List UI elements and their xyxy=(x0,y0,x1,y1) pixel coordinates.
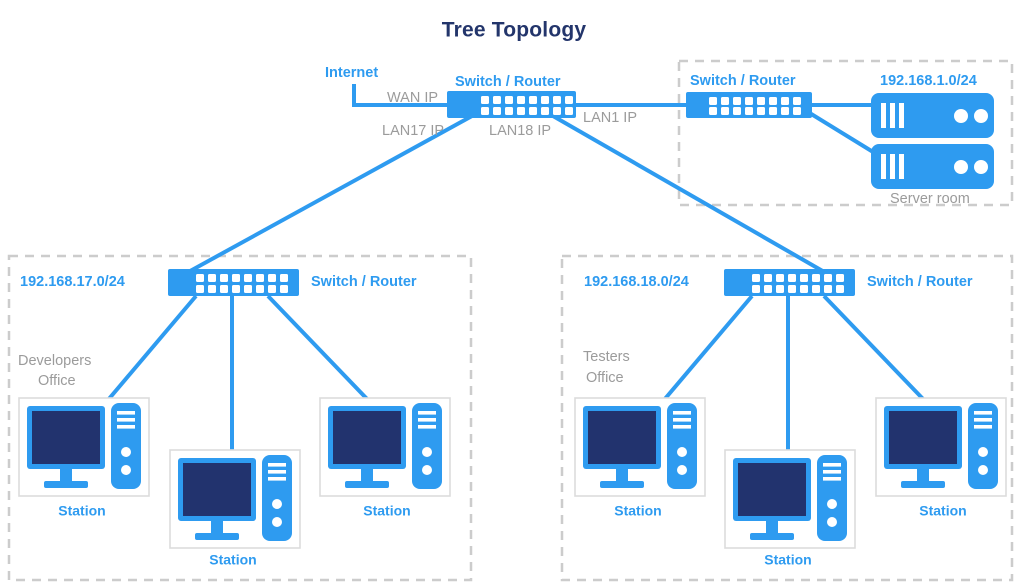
topology-diagram: Tree Topology xyxy=(0,0,1024,588)
core-switch-router[interactable] xyxy=(447,91,576,118)
station-label: Station xyxy=(919,503,966,519)
link-developers-switch-to-station-1 xyxy=(108,296,196,400)
tower-icon xyxy=(412,403,442,489)
tower-icon xyxy=(262,455,292,541)
station-label: Station xyxy=(58,503,105,519)
link-developers-switch-to-station-3 xyxy=(268,296,368,400)
tower-icon xyxy=(667,403,697,489)
station-label: Station xyxy=(209,552,256,568)
serverroom-caption: Server room xyxy=(890,191,970,207)
developers-switch-router[interactable] xyxy=(168,269,299,296)
list-item[interactable]: Station xyxy=(725,450,855,568)
testers-caption-line2: Office xyxy=(586,370,624,386)
list-item[interactable]: Station xyxy=(19,398,149,519)
server-1-bars-icon xyxy=(881,103,904,128)
lan1-ip-label: LAN1 IP xyxy=(583,110,637,126)
developers-caption-line1: Developers xyxy=(18,353,91,369)
tower-icon xyxy=(968,403,998,489)
internet-label: Internet xyxy=(325,65,378,81)
testers-switch-router[interactable] xyxy=(724,269,855,296)
developers-subnet-label: 192.168.17.0/24 xyxy=(20,274,125,290)
server-1[interactable] xyxy=(871,93,994,138)
tower-icon xyxy=(817,455,847,541)
station-label: Station xyxy=(363,503,410,519)
testers-subnet-label: 192.168.18.0/24 xyxy=(584,274,689,290)
page-title: Tree Topology xyxy=(442,19,587,42)
serverroom-subnet-label: 192.168.1.0/24 xyxy=(880,73,977,89)
core-switch-label: Switch / Router xyxy=(455,74,561,90)
lan18-ip-label: LAN18 IP xyxy=(489,123,551,139)
serverroom-switch-router[interactable] xyxy=(686,92,812,118)
link-testers-switch-to-station-3 xyxy=(824,296,924,400)
wan-ip-label: WAN IP xyxy=(387,90,438,106)
server-2[interactable] xyxy=(871,144,994,189)
serverroom-switch-label: Switch / Router xyxy=(690,73,796,89)
developers-switch-label: Switch / Router xyxy=(311,274,417,290)
server-2-bars-icon xyxy=(881,154,904,179)
list-item[interactable]: Station xyxy=(320,398,450,519)
developers-caption-line2: Office xyxy=(38,373,76,389)
testers-caption-line1: Testers xyxy=(583,349,630,365)
link-serverswitch-to-server-2 xyxy=(808,112,878,155)
tower-icon xyxy=(111,403,141,489)
station-label: Station xyxy=(614,503,661,519)
station-label: Station xyxy=(764,552,811,568)
testers-switch-label: Switch / Router xyxy=(867,274,973,290)
link-testers-switch-to-station-1 xyxy=(664,296,752,400)
list-item[interactable]: Station xyxy=(876,398,1006,519)
list-item[interactable]: Station xyxy=(575,398,705,519)
list-item[interactable]: Station xyxy=(170,450,300,568)
lan17-ip-label: LAN17 IP xyxy=(382,123,444,139)
